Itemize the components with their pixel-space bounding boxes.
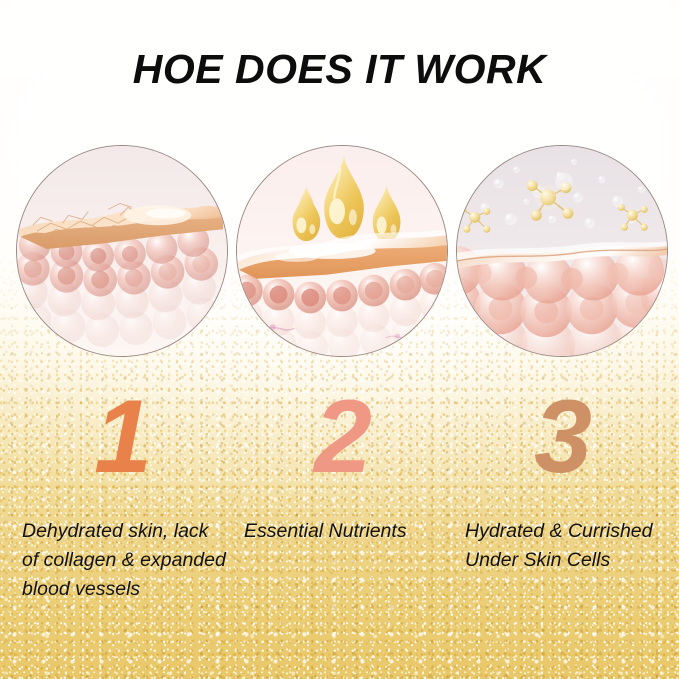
step-number-row: 1 2 3 bbox=[16, 383, 668, 495]
step-2-caption: Essential Nutrients bbox=[233, 517, 450, 604]
step-3-caption: Hydrated & Currished Under Skin Cells bbox=[450, 517, 667, 604]
step-1-number: 1 bbox=[16, 383, 228, 495]
step-3-number: 3 bbox=[456, 383, 668, 495]
how-it-works-poster: HOE DOES IT WORK bbox=[0, 0, 679, 679]
page-title: HOE DOES IT WORK bbox=[0, 46, 679, 93]
step-caption-row: Dehydrated skin, lack of collagen & expa… bbox=[16, 517, 668, 604]
step-1-image bbox=[16, 145, 228, 357]
step-3-image bbox=[456, 145, 668, 357]
step-2-number: 2 bbox=[236, 383, 448, 495]
illustration-row bbox=[16, 145, 668, 357]
step-1-caption: Dehydrated skin, lack of collagen & expa… bbox=[16, 517, 233, 604]
step-2-image bbox=[236, 145, 448, 357]
